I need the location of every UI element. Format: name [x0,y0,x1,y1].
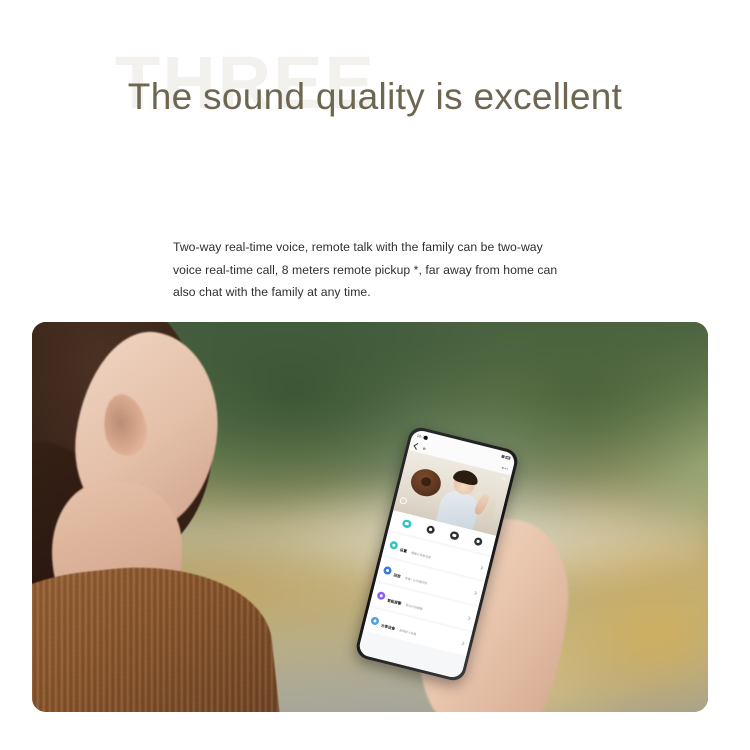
list-item-subtitle: 邀请家人查看 [399,628,417,636]
alarm-icon [376,591,386,601]
video-quality-label[interactable]: HD [501,476,506,481]
microphone-icon[interactable] [402,519,412,529]
list-item-title: 分享设备 [381,624,396,631]
playback-icon [383,566,393,576]
camera-icon[interactable] [425,525,435,535]
feature-description: Two-way real-time voice, remote talk wit… [173,236,573,304]
page-title: The sound quality is excellent [0,74,750,120]
chevron-right-icon [474,591,478,595]
list-item-subtitle: 摄像头参数设置 [411,551,432,560]
product-lifestyle-photo: 10:24 n [32,322,708,712]
more-options-icon[interactable] [502,467,508,469]
back-arrow-icon[interactable] [413,443,420,450]
share-icon [370,616,380,626]
chevron-right-icon [467,616,471,620]
chevron-right-icon [461,641,465,645]
headline-block: THREE The sound quality is excellent [0,44,750,179]
dot [502,467,503,468]
list-item-title: 回放 [393,573,401,579]
list-item-subtitle: 录像 • 云存储回放 [404,576,427,585]
list-item-subtitle: 移动侦测提醒 [405,603,423,611]
product-feature-page: THREE The sound quality is excellent Two… [0,0,750,750]
chevron-right-icon [480,566,484,570]
woman-figure [32,322,352,712]
video-icon[interactable] [449,530,459,540]
settings-icon [389,541,399,551]
dot [506,468,507,469]
grid-icon[interactable] [473,536,483,546]
signal-icon [501,455,505,459]
app-nav-title: n [423,446,427,451]
front-camera-icon [423,435,428,440]
turtleneck-sweater [32,553,279,712]
battery-icon [505,456,510,460]
status-icons [501,455,511,460]
list-item-title: 智能报警 [387,599,402,606]
list-item-title: 设置 [399,548,407,554]
